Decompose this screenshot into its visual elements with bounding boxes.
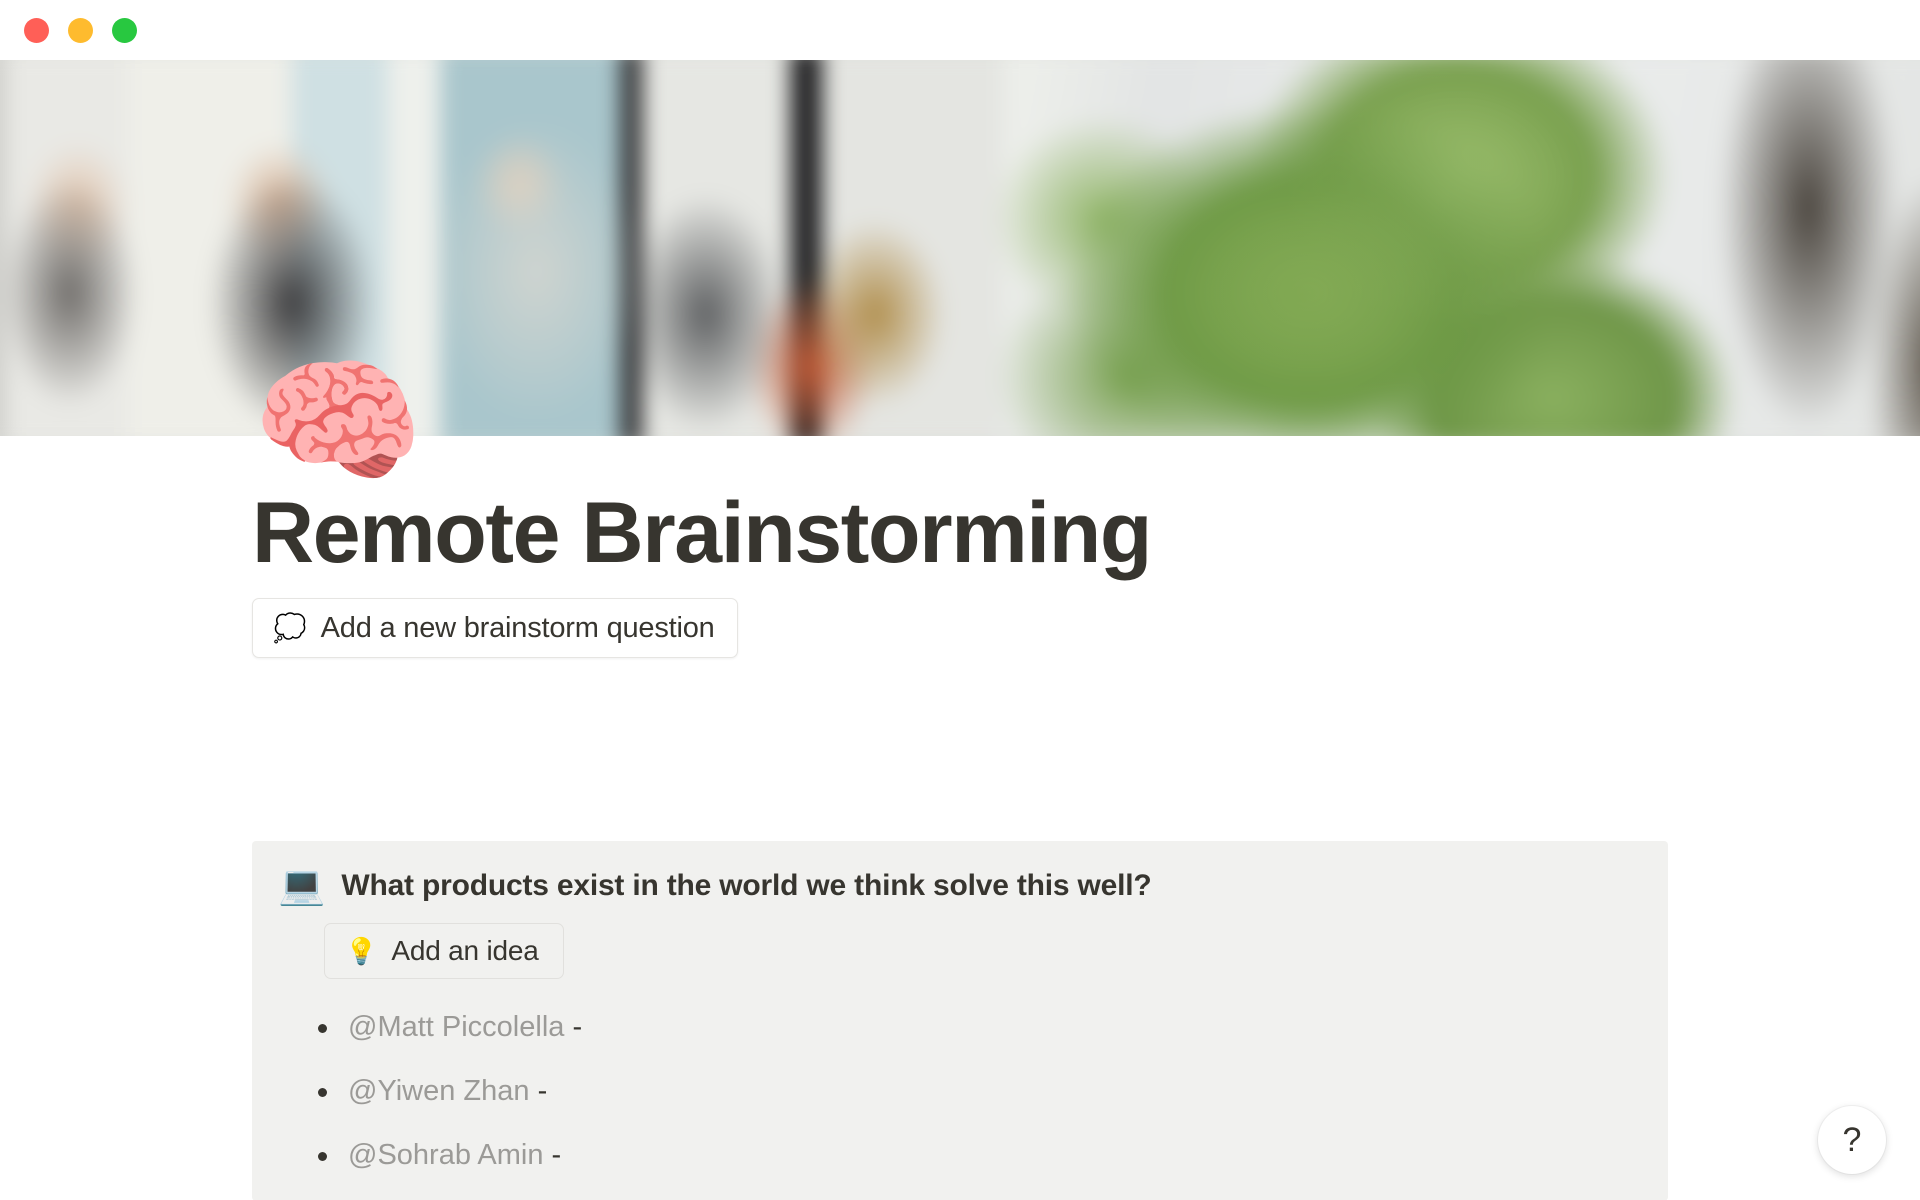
list-item[interactable]: @Matt Piccolella - <box>348 995 1668 1059</box>
laptop-icon: 💻 <box>278 863 325 909</box>
question-header: 💻 What products exist in the world we th… <box>252 863 1668 909</box>
mention-chip[interactable]: @Sohrab Amin <box>348 1139 543 1171</box>
list-item[interactable]: @Yiwen Zhan - <box>348 1059 1668 1123</box>
close-window-button[interactable] <box>24 18 49 43</box>
idea-text[interactable]: - <box>538 1075 548 1107</box>
maximize-window-button[interactable] <box>112 18 137 43</box>
brain-emoji[interactable]: 🧠 <box>252 348 422 496</box>
add-brainstorm-question-button[interactable]: 💭 Add a new brainstorm question <box>252 598 738 658</box>
add-brainstorm-question-label: Add a new brainstorm question <box>321 612 715 645</box>
window-titlebar <box>0 0 1920 60</box>
idea-text[interactable]: - <box>572 1011 582 1043</box>
minimize-window-button[interactable] <box>68 18 93 43</box>
idea-list: @Matt Piccolella - @Yiwen Zhan - @Sohrab… <box>252 995 1668 1187</box>
thought-balloon-icon: 💭 <box>273 615 307 642</box>
list-item[interactable]: @Sohrab Amin - <box>348 1123 1668 1187</box>
question-mark-icon: ? <box>1843 1123 1862 1157</box>
help-button[interactable]: ? <box>1818 1106 1886 1174</box>
app-window: 🧠 Remote Brainstorming 💭 Add a new brain… <box>0 0 1920 1200</box>
mention-chip[interactable]: @Yiwen Zhan <box>348 1075 530 1107</box>
page-content: Remote Brainstorming 💭 Add a new brainst… <box>0 436 1920 1200</box>
window-traffic-lights <box>24 18 137 43</box>
add-idea-button[interactable]: 💡 Add an idea <box>324 923 564 979</box>
question-title[interactable]: What products exist in the world we thin… <box>341 863 1151 909</box>
idea-text[interactable]: - <box>552 1139 562 1171</box>
question-card: 💻 What products exist in the world we th… <box>252 841 1668 1200</box>
add-idea-label: Add an idea <box>391 935 538 967</box>
mention-chip[interactable]: @Matt Piccolella <box>348 1011 564 1043</box>
light-bulb-icon: 💡 <box>345 938 377 964</box>
